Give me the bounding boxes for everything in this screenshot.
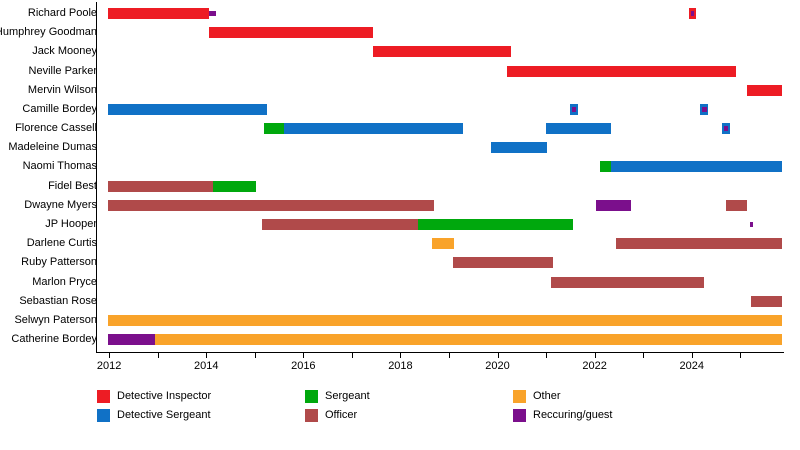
bar-segment — [747, 85, 782, 96]
legend-label: Detective Inspector — [117, 390, 211, 403]
gantt-chart: Richard PooleHumphrey GoodmanJack Mooney… — [0, 0, 800, 450]
legend-label: Sergeant — [325, 390, 370, 403]
legend-label: Reccuring/guest — [533, 409, 613, 422]
row-label-naomi-thomas: Naomi Thomas — [0, 161, 97, 172]
bar-segment — [209, 27, 373, 38]
bar-segment — [108, 200, 434, 211]
bar-segment — [551, 277, 704, 288]
bar-segment — [724, 126, 728, 131]
x-tick — [498, 353, 499, 358]
x-tick — [206, 353, 207, 358]
row-label-darlene-curtis: Darlene Curtis — [0, 238, 97, 249]
legend: Detective InspectorDetective SergeantSer… — [97, 390, 787, 440]
legend-swatch-detective-sergeant — [97, 409, 110, 422]
row-label-florence-cassell: Florence Cassell — [0, 123, 97, 134]
bar-segment — [155, 334, 781, 345]
row-label-dwayne-myers: Dwayne Myers — [0, 200, 97, 211]
bar-segment — [373, 46, 511, 57]
x-tick-minor — [158, 353, 159, 358]
bar-segment — [209, 11, 216, 16]
row-label-madeleine-dumas: Madeleine Dumas — [0, 142, 97, 153]
legend-label: Officer — [325, 409, 357, 422]
x-tick-label-2018: 2018 — [370, 360, 430, 372]
legend-label: Other — [533, 390, 561, 403]
x-axis-line — [96, 352, 784, 353]
bar-segment — [507, 66, 736, 77]
row-label-marlon-pryce: Marlon Pryce — [0, 277, 97, 288]
bar-segment — [418, 219, 572, 230]
x-tick-minor — [740, 353, 741, 358]
x-tick-minor — [546, 353, 547, 358]
bar-segment — [262, 219, 418, 230]
bar-segment — [691, 11, 694, 16]
legend-item-recurring-guest[interactable]: Reccuring/guest — [513, 409, 613, 424]
x-tick-label-2022: 2022 — [565, 360, 625, 372]
row-label-sebastian-rose: Sebastian Rose — [0, 296, 97, 307]
legend-item-other[interactable]: Other — [513, 390, 561, 405]
bar-segment — [108, 8, 209, 19]
plot-area — [97, 0, 784, 352]
legend-item-officer[interactable]: Officer — [305, 409, 357, 424]
bar-segment — [432, 238, 454, 249]
row-label-ruby-patterson: Ruby Patterson — [0, 257, 97, 268]
x-tick-minor — [643, 353, 644, 358]
bar-segment — [751, 296, 781, 307]
bar-segment — [284, 123, 463, 134]
row-label-jp-hooper: JP Hooper — [0, 219, 97, 230]
bar-segment — [108, 334, 155, 345]
x-tick-label-2020: 2020 — [468, 360, 528, 372]
legend-label: Detective Sergeant — [117, 409, 211, 422]
x-tick-label-2016: 2016 — [273, 360, 333, 372]
row-label-selwyn-paterson: Selwyn Paterson — [0, 315, 97, 326]
legend-swatch-officer — [305, 409, 318, 422]
x-tick-label-2012: 2012 — [79, 360, 139, 372]
legend-item-detective-inspector[interactable]: Detective Inspector — [97, 390, 211, 405]
legend-swatch-sergeant — [305, 390, 318, 403]
bar-segment — [213, 181, 257, 192]
bar-segment — [600, 161, 611, 172]
x-tick — [692, 353, 693, 358]
row-label-catherine-bordey: Catherine Bordey — [0, 334, 97, 345]
bar-segment — [572, 107, 576, 112]
bar-segment — [596, 200, 631, 211]
x-tick-minor — [449, 353, 450, 358]
legend-swatch-recurring-guest — [513, 409, 526, 422]
row-label-fidel-best: Fidel Best — [0, 181, 97, 192]
x-tick-label-2024: 2024 — [662, 360, 722, 372]
legend-item-sergeant[interactable]: Sergeant — [305, 390, 370, 405]
bar-segment — [453, 257, 553, 268]
bar-segment — [264, 123, 284, 134]
bar-segment — [108, 104, 267, 115]
x-tick — [109, 353, 110, 358]
row-label-humphrey-goodman: Humphrey Goodman — [0, 27, 97, 38]
bar-segment — [491, 142, 547, 153]
x-tick-minor — [352, 353, 353, 358]
row-label-jack-mooney: Jack Mooney — [0, 46, 97, 57]
bar-segment — [108, 181, 212, 192]
x-tick — [400, 353, 401, 358]
legend-item-detective-sergeant[interactable]: Detective Sergeant — [97, 409, 211, 424]
legend-swatch-other — [513, 390, 526, 403]
bar-segment — [611, 161, 782, 172]
x-tick — [303, 353, 304, 358]
row-label-neville-parker: Neville Parker — [0, 66, 97, 77]
legend-swatch-detective-inspector — [97, 390, 110, 403]
bar-segment — [108, 315, 781, 326]
x-tick — [595, 353, 596, 358]
bar-segment — [702, 107, 706, 112]
row-label-richard-poole: Richard Poole — [0, 8, 97, 19]
bar-segment — [546, 123, 611, 134]
bar-segment — [726, 200, 747, 211]
bar-segment — [750, 222, 753, 227]
row-label-camille-bordey: Camille Bordey — [0, 104, 97, 115]
bar-segment — [616, 238, 781, 249]
row-label-mervin-wilson: Mervin Wilson — [0, 85, 97, 96]
x-tick-label-2014: 2014 — [176, 360, 236, 372]
x-tick-minor — [255, 353, 256, 358]
